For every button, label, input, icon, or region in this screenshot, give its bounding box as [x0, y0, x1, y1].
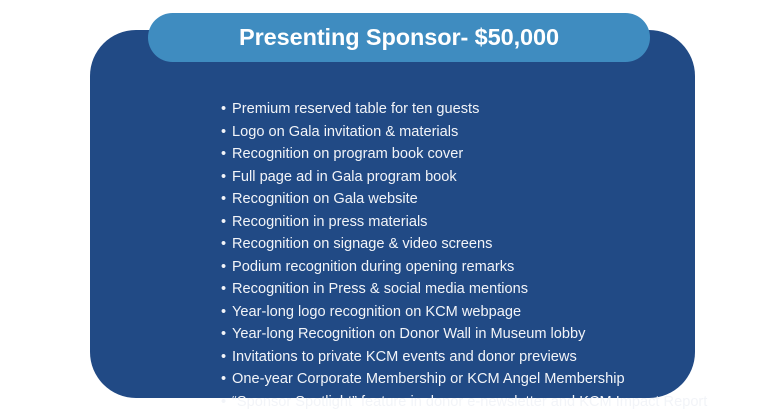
bullet-icon: • — [221, 346, 226, 369]
benefit-item-label: Logo on Gala invitation & materials — [232, 124, 458, 140]
benefit-item: •One-year Corporate Membership or KCM An… — [221, 368, 768, 391]
bullet-icon: • — [221, 323, 226, 346]
bullet-icon: • — [221, 256, 226, 279]
benefit-item: •“Sponsor Spotlight” feature in donor e-… — [221, 391, 768, 414]
benefit-item: •Recognition in Press & social media men… — [221, 278, 768, 301]
benefit-item: •Recognition on program book cover — [221, 143, 768, 166]
tier-banner: Presenting Sponsor- $50,000 — [148, 13, 650, 62]
benefit-item-label: Premium reserved table for ten guests — [232, 101, 479, 117]
benefit-item: •Invitations to private KCM events and d… — [221, 346, 768, 369]
bullet-icon: • — [221, 233, 226, 256]
tier-title: Presenting Sponsor- $50,000 — [239, 26, 559, 50]
benefit-item: •Recognition in press materials — [221, 211, 768, 234]
benefit-item: •Year-long logo recognition on KCM webpa… — [221, 301, 768, 324]
bullet-icon: • — [221, 188, 226, 211]
bullet-icon: • — [221, 278, 226, 301]
benefit-item-label: Recognition on signage & video screens — [232, 236, 492, 252]
benefit-item-label: Podium recognition during opening remark… — [232, 259, 514, 275]
benefit-item: •Recognition on signage & video screens — [221, 233, 768, 256]
benefit-item: •Year-long Recognition on Donor Wall in … — [221, 323, 768, 346]
bullet-icon: • — [221, 391, 226, 414]
benefit-item-label: Year-long logo recognition on KCM webpag… — [232, 304, 521, 320]
bullet-icon: • — [221, 166, 226, 189]
benefit-item-label: Recognition in Press & social media ment… — [232, 281, 528, 297]
bullet-icon: • — [221, 211, 226, 234]
benefit-item: •Recognition on Gala website — [221, 188, 768, 211]
benefit-item-label: Full page ad in Gala program book — [232, 169, 457, 185]
benefit-item-label: Invitations to private KCM events and do… — [232, 349, 577, 365]
benefit-item-label: Recognition on Gala website — [232, 191, 418, 207]
benefit-item-label: Recognition in press materials — [232, 214, 427, 230]
bullet-icon: • — [221, 368, 226, 391]
benefit-item-label: Recognition on program book cover — [232, 146, 463, 162]
benefit-item: •Logo on Gala invitation & materials — [221, 121, 768, 144]
bullet-icon: • — [221, 121, 226, 144]
benefit-item: •Podium recognition during opening remar… — [221, 256, 768, 279]
bullet-icon: • — [221, 301, 226, 324]
benefit-item-label: One-year Corporate Membership or KCM Ang… — [232, 371, 625, 387]
benefit-item: •Full page ad in Gala program book — [221, 166, 768, 189]
benefit-item-label: “Sponsor Spotlight” feature in donor e-n… — [232, 394, 707, 410]
sponsor-tier-card: •Premium reserved table for ten guests•L… — [90, 30, 695, 398]
bullet-icon: • — [221, 143, 226, 166]
benefit-item-label: Year-long Recognition on Donor Wall in M… — [232, 326, 585, 342]
benefits-list: •Premium reserved table for ten guests•L… — [221, 98, 768, 413]
bullet-icon: • — [221, 98, 226, 121]
benefit-item: •Premium reserved table for ten guests — [221, 98, 768, 121]
